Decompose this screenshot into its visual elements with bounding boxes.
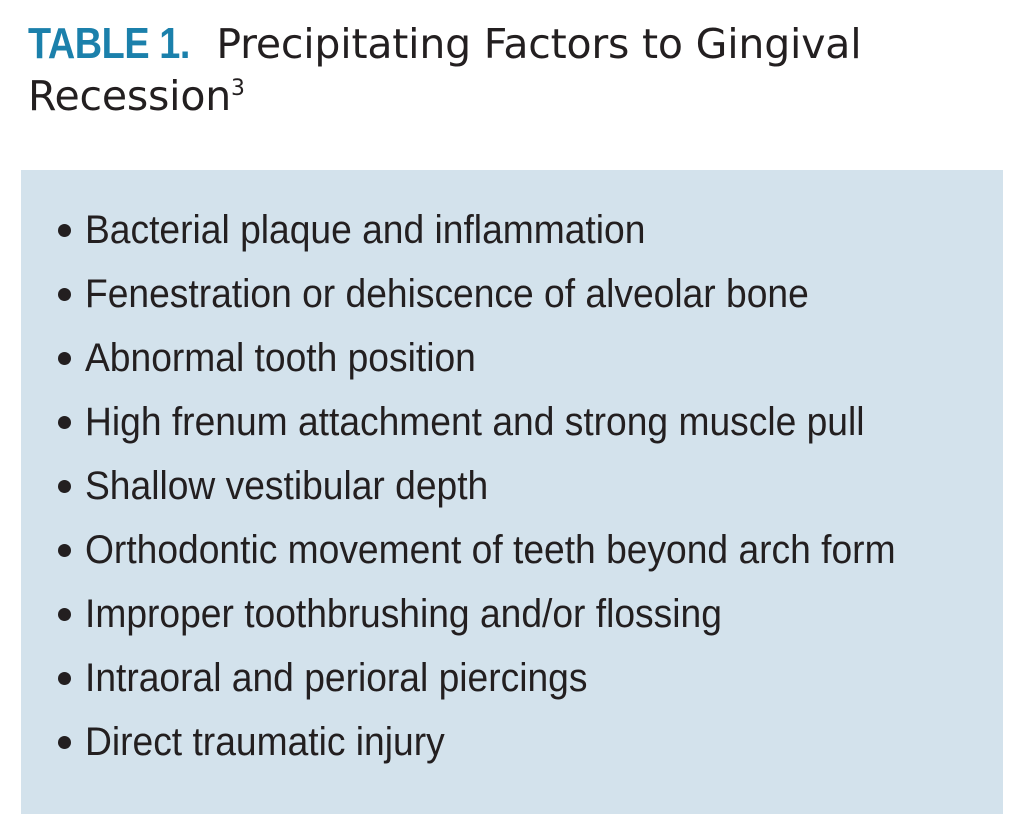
table-figure: TABLE 1.Precipitating Factors to Gingiva… xyxy=(0,0,1024,838)
bullet-icon xyxy=(58,544,71,557)
list-item: Direct traumatic injury xyxy=(58,710,472,774)
list-item: Orthodontic movement of teeth beyond arc… xyxy=(58,518,957,582)
list-item-label: Abnormal tooth position xyxy=(85,336,476,380)
table-number-text: TABLE 1. xyxy=(28,19,190,68)
bullet-icon xyxy=(58,288,71,301)
factors-panel: Bacterial plaque and inflammationFenestr… xyxy=(21,170,1003,814)
list-item: High frenum attachment and strong muscle… xyxy=(58,390,923,454)
list-item-label: Direct traumatic injury xyxy=(85,720,445,764)
bullet-icon xyxy=(58,416,71,429)
bullet-icon xyxy=(58,352,71,365)
list-item-label: Fenestration or dehiscence of alveolar b… xyxy=(85,272,809,316)
bullet-icon xyxy=(58,608,71,621)
page-title: TABLE 1.Precipitating Factors to Gingiva… xyxy=(28,18,988,122)
list-item-label: High frenum attachment and strong muscle… xyxy=(85,400,865,444)
bullet-icon xyxy=(58,480,71,493)
list-item: Shallow vestibular depth xyxy=(58,454,519,518)
table-number-label: TABLE 1. xyxy=(28,18,190,70)
title-reference-superscript: 3 xyxy=(231,76,245,101)
list-item: Fenestration or dehiscence of alveolar b… xyxy=(58,262,863,326)
list-item: Intraoral and perioral piercings xyxy=(58,646,625,710)
bullet-icon xyxy=(58,224,71,237)
list-item-label: Orthodontic movement of teeth beyond arc… xyxy=(85,528,896,572)
bullet-icon xyxy=(58,736,71,749)
list-item-label: Bacterial plaque and inflammation xyxy=(85,208,645,252)
list-item-label: Intraoral and perioral piercings xyxy=(85,656,587,700)
list-item: Bacterial plaque and inflammation xyxy=(58,198,688,262)
bullet-icon xyxy=(58,672,71,685)
list-item: Improper toothbrushing and/or flossing xyxy=(58,582,770,646)
list-item-label: Shallow vestibular depth xyxy=(85,464,488,508)
list-item-label: Improper toothbrushing and/or flossing xyxy=(85,592,722,636)
list-item: Abnormal tooth position xyxy=(58,326,505,390)
